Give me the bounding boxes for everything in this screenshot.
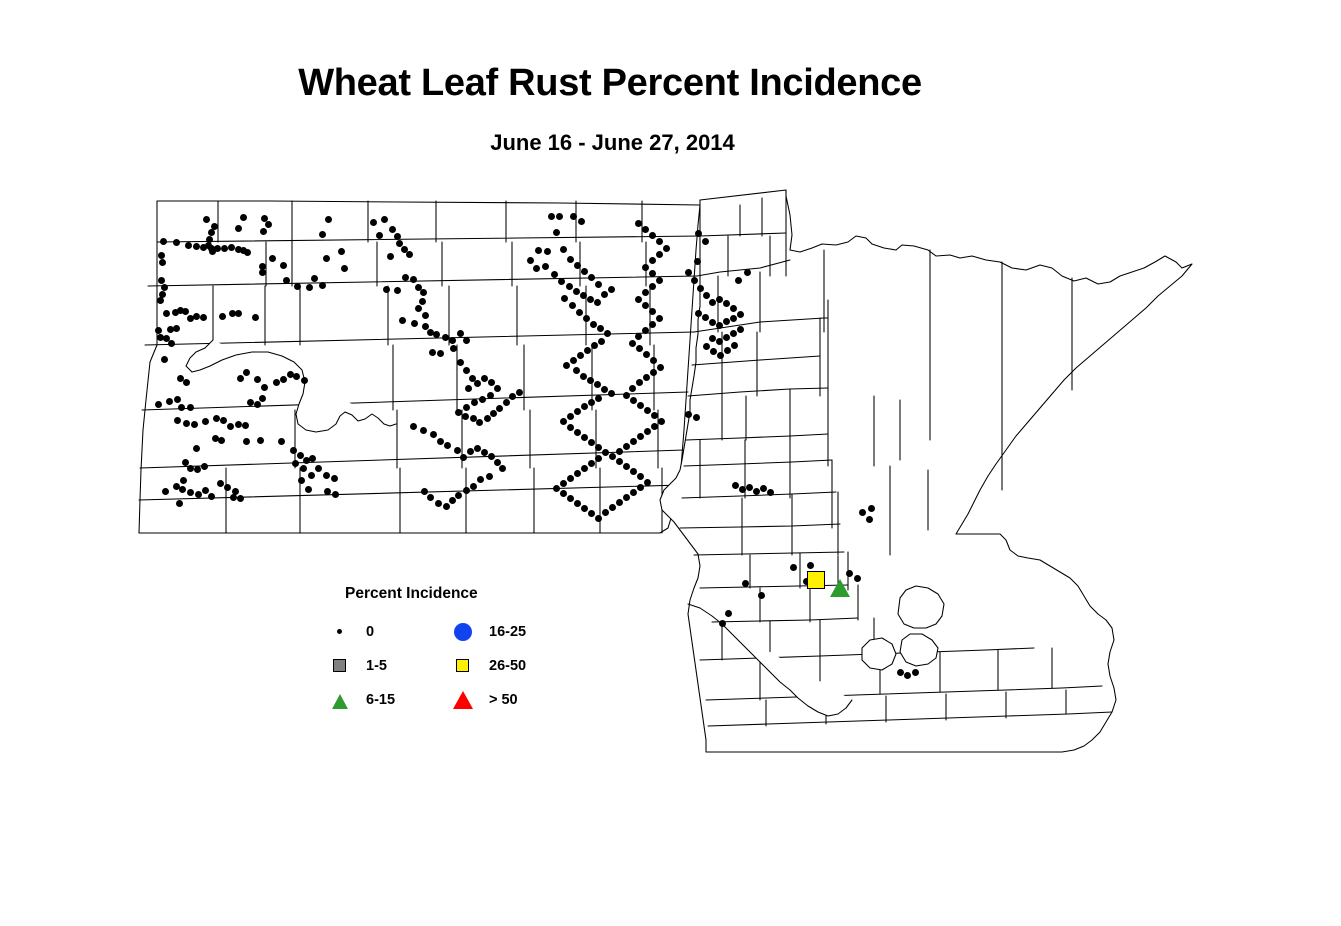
incidence-point-zero[interactable] xyxy=(185,242,192,249)
incidence-point-zero[interactable] xyxy=(643,374,650,381)
incidence-point-zero[interactable] xyxy=(252,314,259,321)
incidence-point-zero[interactable] xyxy=(609,504,616,511)
incidence-point-zero[interactable] xyxy=(551,271,558,278)
incidence-point-zero[interactable] xyxy=(191,421,198,428)
incidence-point-zero[interactable] xyxy=(476,419,483,426)
incidence-point-zero[interactable] xyxy=(730,330,737,337)
incidence-point-zero[interactable] xyxy=(569,302,576,309)
incidence-point-zero[interactable] xyxy=(155,327,162,334)
incidence-point-zero[interactable] xyxy=(657,364,664,371)
incidence-point-zero[interactable] xyxy=(567,495,574,502)
incidence-point-zero[interactable] xyxy=(709,335,716,342)
incidence-point-zero[interactable] xyxy=(410,276,417,283)
incidence-point-zero[interactable] xyxy=(394,233,401,240)
incidence-point-zero[interactable] xyxy=(265,221,272,228)
incidence-point-zero[interactable] xyxy=(455,409,462,416)
incidence-point-zero[interactable] xyxy=(535,247,542,254)
incidence-point-zero[interactable] xyxy=(685,269,692,276)
incidence-point-zero[interactable] xyxy=(486,473,493,480)
incidence-point-zero[interactable] xyxy=(717,352,724,359)
incidence-point-zero[interactable] xyxy=(202,418,209,425)
incidence-point-zero[interactable] xyxy=(601,386,608,393)
incidence-point-zero[interactable] xyxy=(574,408,581,415)
incidence-point-zero[interactable] xyxy=(193,445,200,452)
incidence-point-zero[interactable] xyxy=(567,413,574,420)
incidence-point-zero[interactable] xyxy=(581,434,588,441)
incidence-point-zero[interactable] xyxy=(247,399,254,406)
incidence-point-zero[interactable] xyxy=(474,445,481,452)
incidence-point-zero[interactable] xyxy=(574,429,581,436)
incidence-point-zero[interactable] xyxy=(644,407,651,414)
incidence-point-zero[interactable] xyxy=(411,320,418,327)
incidence-point-zero[interactable] xyxy=(309,455,316,462)
incidence-point-zero[interactable] xyxy=(487,392,494,399)
incidence-point-zero[interactable] xyxy=(457,359,464,366)
incidence-point-zero[interactable] xyxy=(723,318,730,325)
incidence-point-zero[interactable] xyxy=(637,484,644,491)
incidence-point-zero[interactable] xyxy=(584,347,591,354)
incidence-point-zero[interactable] xyxy=(449,497,456,504)
incidence-point-zero[interactable] xyxy=(260,228,267,235)
incidence-point-zero[interactable] xyxy=(323,255,330,262)
incidence-point-zero[interactable] xyxy=(595,444,602,451)
incidence-point-zero[interactable] xyxy=(187,489,194,496)
incidence-point-zero[interactable] xyxy=(567,256,574,263)
incidence-point-zero[interactable] xyxy=(311,275,318,282)
incidence-point-zero[interactable] xyxy=(731,342,738,349)
incidence-point-zero[interactable] xyxy=(590,321,597,328)
incidence-point-zero[interactable] xyxy=(716,338,723,345)
incidence-point-zero[interactable] xyxy=(651,412,658,419)
incidence-point-zero[interactable] xyxy=(174,417,181,424)
incidence-point-zero[interactable] xyxy=(305,486,312,493)
incidence-point-zero[interactable] xyxy=(588,274,595,281)
incidence-point-zero[interactable] xyxy=(237,495,244,502)
incidence-point-zero[interactable] xyxy=(243,438,250,445)
incidence-point-zero[interactable] xyxy=(595,515,602,522)
incidence-point-zero[interactable] xyxy=(227,423,234,430)
incidence-point-zero[interactable] xyxy=(767,489,774,496)
incidence-point-zero[interactable] xyxy=(509,393,516,400)
incidence-point-zero[interactable] xyxy=(280,376,287,383)
incidence-point-zero[interactable] xyxy=(642,226,649,233)
incidence-point-zero[interactable] xyxy=(193,313,200,320)
incidence-point-zero[interactable] xyxy=(544,248,551,255)
incidence-point-zero[interactable] xyxy=(259,395,266,402)
incidence-point-zero[interactable] xyxy=(221,245,228,252)
incidence-point-zero[interactable] xyxy=(642,264,649,271)
incidence-point-zero[interactable] xyxy=(719,620,726,627)
incidence-point-zero[interactable] xyxy=(477,476,484,483)
incidence-point-zero[interactable] xyxy=(649,270,656,277)
incidence-point-zero[interactable] xyxy=(742,580,749,587)
incidence-point-zero[interactable] xyxy=(155,401,162,408)
incidence-point-zero[interactable] xyxy=(697,285,704,292)
incidence-point-6-15[interactable] xyxy=(830,579,850,597)
incidence-point-zero[interactable] xyxy=(370,219,377,226)
incidence-point-zero[interactable] xyxy=(474,380,481,387)
incidence-point-zero[interactable] xyxy=(560,418,567,425)
incidence-point-zero[interactable] xyxy=(429,349,436,356)
incidence-point-zero[interactable] xyxy=(594,299,601,306)
incidence-point-zero[interactable] xyxy=(658,418,665,425)
incidence-point-zero[interactable] xyxy=(292,460,299,467)
incidence-point-zero[interactable] xyxy=(595,395,602,402)
incidence-point-zero[interactable] xyxy=(235,310,242,317)
incidence-point-zero[interactable] xyxy=(644,479,651,486)
incidence-point-zero[interactable] xyxy=(608,390,615,397)
incidence-point-zero[interactable] xyxy=(257,437,264,444)
incidence-point-zero[interactable] xyxy=(642,327,649,334)
incidence-point-zero[interactable] xyxy=(760,485,767,492)
incidence-point-zero[interactable] xyxy=(194,466,201,473)
incidence-point-zero[interactable] xyxy=(570,213,577,220)
incidence-point-zero[interactable] xyxy=(642,302,649,309)
incidence-point-zero[interactable] xyxy=(629,385,636,392)
incidence-point-zero[interactable] xyxy=(402,274,409,281)
incidence-point-zero[interactable] xyxy=(449,337,456,344)
incidence-point-zero[interactable] xyxy=(577,352,584,359)
incidence-point-zero[interactable] xyxy=(587,296,594,303)
incidence-point-zero[interactable] xyxy=(200,244,207,251)
incidence-point-zero[interactable] xyxy=(243,369,250,376)
incidence-point-zero[interactable] xyxy=(643,351,650,358)
incidence-point-zero[interactable] xyxy=(283,277,290,284)
incidence-point-zero[interactable] xyxy=(214,245,221,252)
incidence-point-zero[interactable] xyxy=(663,245,670,252)
incidence-point-26-50[interactable] xyxy=(807,571,825,589)
incidence-point-zero[interactable] xyxy=(533,265,540,272)
incidence-point-zero[interactable] xyxy=(695,230,702,237)
incidence-point-zero[interactable] xyxy=(553,485,560,492)
incidence-point-zero[interactable] xyxy=(716,322,723,329)
incidence-point-zero[interactable] xyxy=(629,340,636,347)
incidence-point-zero[interactable] xyxy=(208,493,215,500)
incidence-point-zero[interactable] xyxy=(650,357,657,364)
incidence-point-zero[interactable] xyxy=(581,465,588,472)
incidence-point-zero[interactable] xyxy=(332,491,339,498)
incidence-point-zero[interactable] xyxy=(389,226,396,233)
incidence-point-zero[interactable] xyxy=(656,315,663,322)
incidence-point-zero[interactable] xyxy=(758,592,765,599)
incidence-point-zero[interactable] xyxy=(904,672,911,679)
incidence-point-zero[interactable] xyxy=(630,468,637,475)
incidence-point-zero[interactable] xyxy=(576,309,583,316)
incidence-point-zero[interactable] xyxy=(656,277,663,284)
incidence-point-zero[interactable] xyxy=(623,463,630,470)
incidence-point-zero[interactable] xyxy=(162,488,169,495)
incidence-point-zero[interactable] xyxy=(746,484,753,491)
incidence-point-zero[interactable] xyxy=(567,475,574,482)
incidence-point-zero[interactable] xyxy=(230,494,237,501)
incidence-point-zero[interactable] xyxy=(178,404,185,411)
map-canvas[interactable] xyxy=(0,0,1341,926)
incidence-point-zero[interactable] xyxy=(695,310,702,317)
incidence-point-zero[interactable] xyxy=(866,516,873,523)
incidence-point-zero[interactable] xyxy=(463,487,470,494)
incidence-point-zero[interactable] xyxy=(560,246,567,253)
incidence-point-zero[interactable] xyxy=(435,500,442,507)
incidence-point-zero[interactable] xyxy=(656,238,663,245)
incidence-point-zero[interactable] xyxy=(174,396,181,403)
incidence-point-zero[interactable] xyxy=(450,345,457,352)
incidence-point-zero[interactable] xyxy=(573,367,580,374)
incidence-point-zero[interactable] xyxy=(187,404,194,411)
incidence-point-zero[interactable] xyxy=(235,225,242,232)
incidence-point-zero[interactable] xyxy=(650,369,657,376)
incidence-point-zero[interactable] xyxy=(694,258,701,265)
incidence-point-zero[interactable] xyxy=(465,385,472,392)
incidence-point-zero[interactable] xyxy=(325,216,332,223)
incidence-point-zero[interactable] xyxy=(420,427,427,434)
incidence-point-zero[interactable] xyxy=(240,214,247,221)
incidence-point-zero[interactable] xyxy=(637,433,644,440)
incidence-point-zero[interactable] xyxy=(159,259,166,266)
incidence-point-zero[interactable] xyxy=(574,500,581,507)
incidence-point-zero[interactable] xyxy=(730,305,737,312)
incidence-point-zero[interactable] xyxy=(410,423,417,430)
incidence-point-zero[interactable] xyxy=(703,292,710,299)
incidence-point-zero[interactable] xyxy=(422,312,429,319)
incidence-point-zero[interactable] xyxy=(503,399,510,406)
incidence-point-zero[interactable] xyxy=(649,283,656,290)
incidence-point-zero[interactable] xyxy=(649,257,656,264)
incidence-point-zero[interactable] xyxy=(183,420,190,427)
incidence-point-zero[interactable] xyxy=(737,311,744,318)
incidence-point-zero[interactable] xyxy=(200,314,207,321)
incidence-point-zero[interactable] xyxy=(315,465,322,472)
incidence-point-zero[interactable] xyxy=(208,229,215,236)
incidence-point-zero[interactable] xyxy=(443,503,450,510)
incidence-point-zero[interactable] xyxy=(602,449,609,456)
incidence-point-zero[interactable] xyxy=(642,289,649,296)
incidence-point-zero[interactable] xyxy=(560,480,567,487)
incidence-point-zero[interactable] xyxy=(693,414,700,421)
incidence-point-zero[interactable] xyxy=(581,403,588,410)
incidence-point-zero[interactable] xyxy=(649,232,656,239)
incidence-point-zero[interactable] xyxy=(437,438,444,445)
incidence-point-zero[interactable] xyxy=(218,437,225,444)
incidence-point-zero[interactable] xyxy=(542,263,549,270)
incidence-point-zero[interactable] xyxy=(433,331,440,338)
incidence-point-zero[interactable] xyxy=(735,277,742,284)
incidence-point-zero[interactable] xyxy=(716,296,723,303)
incidence-point-zero[interactable] xyxy=(685,411,692,418)
incidence-point-zero[interactable] xyxy=(437,350,444,357)
incidence-point-zero[interactable] xyxy=(420,289,427,296)
incidence-point-zero[interactable] xyxy=(319,282,326,289)
incidence-point-zero[interactable] xyxy=(201,463,208,470)
incidence-point-zero[interactable] xyxy=(868,505,875,512)
incidence-point-zero[interactable] xyxy=(193,243,200,250)
incidence-point-zero[interactable] xyxy=(570,357,577,364)
incidence-point-zero[interactable] xyxy=(846,570,853,577)
incidence-point-zero[interactable] xyxy=(173,239,180,246)
incidence-point-zero[interactable] xyxy=(581,268,588,275)
incidence-point-zero[interactable] xyxy=(636,345,643,352)
incidence-point-zero[interactable] xyxy=(463,337,470,344)
incidence-point-zero[interactable] xyxy=(636,379,643,386)
incidence-point-zero[interactable] xyxy=(912,669,919,676)
incidence-point-zero[interactable] xyxy=(467,448,474,455)
incidence-point-zero[interactable] xyxy=(635,220,642,227)
incidence-point-zero[interactable] xyxy=(240,247,247,254)
incidence-point-zero[interactable] xyxy=(242,422,249,429)
incidence-point-zero[interactable] xyxy=(415,305,422,312)
incidence-point-zero[interactable] xyxy=(161,356,168,363)
incidence-point-zero[interactable] xyxy=(182,308,189,315)
incidence-point-zero[interactable] xyxy=(470,483,477,490)
incidence-point-zero[interactable] xyxy=(630,438,637,445)
incidence-point-zero[interactable] xyxy=(588,510,595,517)
incidence-point-zero[interactable] xyxy=(623,443,630,450)
incidence-point-zero[interactable] xyxy=(702,238,709,245)
incidence-point-zero[interactable] xyxy=(308,472,315,479)
incidence-point-zero[interactable] xyxy=(574,262,581,269)
incidence-point-zero[interactable] xyxy=(637,473,644,480)
incidence-point-zero[interactable] xyxy=(725,610,732,617)
incidence-point-zero[interactable] xyxy=(556,213,563,220)
incidence-point-zero[interactable] xyxy=(601,291,608,298)
incidence-point-zero[interactable] xyxy=(219,313,226,320)
incidence-point-zero[interactable] xyxy=(301,377,308,384)
incidence-point-zero[interactable] xyxy=(183,379,190,386)
incidence-point-zero[interactable] xyxy=(394,287,401,294)
incidence-point-zero[interactable] xyxy=(213,415,220,422)
incidence-point-zero[interactable] xyxy=(176,500,183,507)
incidence-point-zero[interactable] xyxy=(157,297,164,304)
incidence-point-zero[interactable] xyxy=(168,340,175,347)
incidence-point-zero[interactable] xyxy=(463,404,470,411)
incidence-point-zero[interactable] xyxy=(179,486,186,493)
incidence-point-zero[interactable] xyxy=(616,448,623,455)
incidence-point-zero[interactable] xyxy=(387,253,394,260)
incidence-point-zero[interactable] xyxy=(187,465,194,472)
incidence-point-zero[interactable] xyxy=(580,292,587,299)
incidence-point-zero[interactable] xyxy=(158,277,165,284)
incidence-point-zero[interactable] xyxy=(598,338,605,345)
incidence-point-zero[interactable] xyxy=(588,460,595,467)
incidence-point-zero[interactable] xyxy=(723,334,730,341)
incidence-point-zero[interactable] xyxy=(566,283,573,290)
incidence-point-zero[interactable] xyxy=(753,488,760,495)
incidence-point-zero[interactable] xyxy=(457,330,464,337)
incidence-point-zero[interactable] xyxy=(383,286,390,293)
incidence-point-zero[interactable] xyxy=(623,494,630,501)
incidence-point-zero[interactable] xyxy=(637,402,644,409)
incidence-point-zero[interactable] xyxy=(588,399,595,406)
incidence-point-zero[interactable] xyxy=(331,475,338,482)
incidence-point-zero[interactable] xyxy=(730,315,737,322)
incidence-point-zero[interactable] xyxy=(644,428,651,435)
incidence-point-zero[interactable] xyxy=(381,216,388,223)
incidence-point-zero[interactable] xyxy=(160,238,167,245)
incidence-point-zero[interactable] xyxy=(341,265,348,272)
incidence-point-zero[interactable] xyxy=(580,373,587,380)
incidence-point-zero[interactable] xyxy=(298,477,305,484)
incidence-point-zero[interactable] xyxy=(269,255,276,262)
incidence-point-zero[interactable] xyxy=(588,439,595,446)
incidence-point-zero[interactable] xyxy=(158,252,165,259)
incidence-point-zero[interactable] xyxy=(220,417,227,424)
incidence-point-zero[interactable] xyxy=(567,424,574,431)
incidence-point-zero[interactable] xyxy=(300,465,307,472)
incidence-point-zero[interactable] xyxy=(180,477,187,484)
incidence-point-zero[interactable] xyxy=(217,480,224,487)
incidence-point-zero[interactable] xyxy=(261,384,268,391)
incidence-point-zero[interactable] xyxy=(237,375,244,382)
incidence-point-zero[interactable] xyxy=(323,472,330,479)
incidence-point-zero[interactable] xyxy=(427,494,434,501)
incidence-point-zero[interactable] xyxy=(732,482,739,489)
incidence-point-zero[interactable] xyxy=(259,269,266,276)
incidence-point-zero[interactable] xyxy=(744,269,751,276)
incidence-point-zero[interactable] xyxy=(254,401,261,408)
incidence-point-zero[interactable] xyxy=(471,399,478,406)
incidence-point-zero[interactable] xyxy=(294,283,301,290)
incidence-point-zero[interactable] xyxy=(419,298,426,305)
incidence-point-zero[interactable] xyxy=(623,392,630,399)
incidence-point-zero[interactable] xyxy=(235,421,242,428)
incidence-point-zero[interactable] xyxy=(494,385,501,392)
incidence-point-zero[interactable] xyxy=(166,398,173,405)
incidence-point-zero[interactable] xyxy=(602,509,609,516)
incidence-point-zero[interactable] xyxy=(597,325,604,332)
incidence-point-zero[interactable] xyxy=(280,262,287,269)
incidence-point-zero[interactable] xyxy=(481,449,488,456)
incidence-point-zero[interactable] xyxy=(306,284,313,291)
incidence-point-zero[interactable] xyxy=(703,343,710,350)
incidence-point-zero[interactable] xyxy=(604,330,611,337)
incidence-point-zero[interactable] xyxy=(635,333,642,340)
incidence-point-zero[interactable] xyxy=(563,362,570,369)
incidence-point-zero[interactable] xyxy=(442,334,449,341)
incidence-point-zero[interactable] xyxy=(581,505,588,512)
incidence-point-zero[interactable] xyxy=(709,299,716,306)
incidence-point-zero[interactable] xyxy=(709,319,716,326)
incidence-point-zero[interactable] xyxy=(691,277,698,284)
incidence-point-zero[interactable] xyxy=(561,295,568,302)
incidence-point-zero[interactable] xyxy=(324,488,331,495)
incidence-point-zero[interactable] xyxy=(558,278,565,285)
incidence-point-zero[interactable] xyxy=(293,373,300,380)
incidence-point-zero[interactable] xyxy=(723,300,730,307)
incidence-point-zero[interactable] xyxy=(481,375,488,382)
incidence-point-zero[interactable] xyxy=(578,218,585,225)
incidence-point-zero[interactable] xyxy=(616,458,623,465)
incidence-point-zero[interactable] xyxy=(455,492,462,499)
incidence-point-zero[interactable] xyxy=(739,486,746,493)
incidence-point-zero[interactable] xyxy=(649,308,656,315)
incidence-point-zero[interactable] xyxy=(406,251,413,258)
incidence-point-zero[interactable] xyxy=(595,455,602,462)
incidence-point-zero[interactable] xyxy=(224,484,231,491)
incidence-point-zero[interactable] xyxy=(897,669,904,676)
incidence-point-zero[interactable] xyxy=(173,325,180,332)
incidence-point-zero[interactable] xyxy=(724,347,731,354)
incidence-point-zero[interactable] xyxy=(195,491,202,498)
incidence-point-zero[interactable] xyxy=(609,453,616,460)
incidence-point-zero[interactable] xyxy=(595,281,602,288)
incidence-point-zero[interactable] xyxy=(376,232,383,239)
incidence-point-zero[interactable] xyxy=(587,377,594,384)
incidence-point-zero[interactable] xyxy=(574,470,581,477)
incidence-point-zero[interactable] xyxy=(630,489,637,496)
incidence-point-zero[interactable] xyxy=(278,438,285,445)
incidence-point-zero[interactable] xyxy=(203,216,210,223)
incidence-point-zero[interactable] xyxy=(430,431,437,438)
incidence-point-zero[interactable] xyxy=(463,367,470,374)
